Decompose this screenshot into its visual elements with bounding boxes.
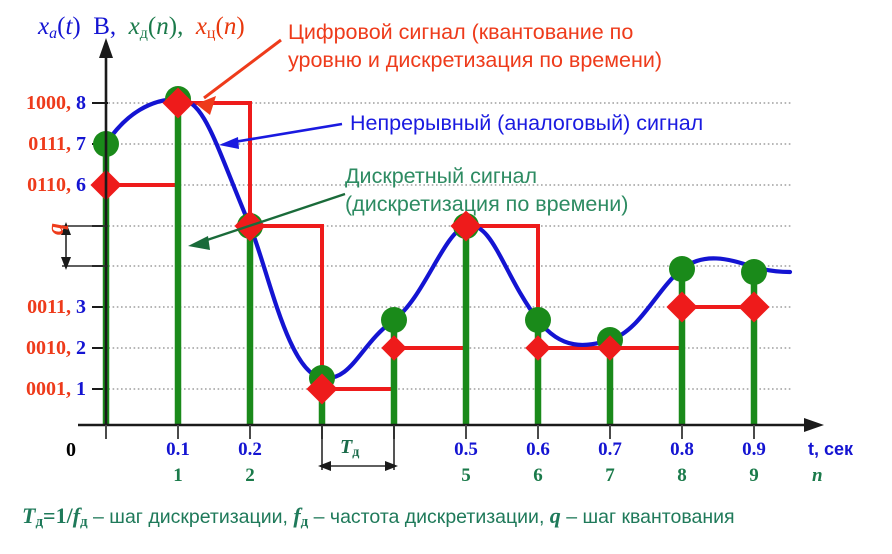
y-label-3-binary: 0011, — [27, 296, 71, 318]
sample-dot-n-6 — [525, 307, 551, 333]
caption-eq: =1/ — [43, 503, 73, 528]
sample-dot-n-4 — [381, 307, 407, 333]
figure-canvas: xa(t) B, xд(n), xц(n) Цифровой сигнал (к… — [0, 0, 892, 554]
quant-diamond-n-8 — [666, 291, 697, 322]
analog-arrowhead — [219, 137, 239, 149]
quant-diamond-n-4 — [381, 335, 406, 360]
x-label-n-2: 2 — [222, 466, 278, 485]
x-label-n-1: 1 — [150, 466, 206, 485]
y-label-2: 0010, 2 — [0, 338, 86, 358]
x-label-t-0.2: 0.2 — [222, 440, 278, 459]
y-label-8-binary: 1000, — [26, 92, 71, 114]
analog-annotation-arrow — [228, 124, 342, 143]
y-label-1-binary: 0001, — [26, 378, 71, 400]
caption-Td: Tд — [22, 503, 43, 528]
y-label-7-level: 7 — [76, 133, 86, 155]
caption-q: q — [550, 503, 561, 528]
caption-fd2: fд — [293, 503, 308, 528]
annotation-discrete: Дискретный сигнал (дискретизация по врем… — [345, 166, 628, 215]
x-label-n-5: 5 — [438, 466, 494, 485]
x-label-t-0.1: 0.1 — [150, 440, 206, 459]
annotation-analog: Непрерывный (аналоговый) сигнал — [350, 113, 703, 135]
digital-annotation-arrow — [204, 40, 281, 98]
q-arrow-down — [61, 257, 71, 270]
caption-text2: – частота дискретизации, — [308, 506, 550, 528]
annotation-analog-line1: Непрерывный (аналоговый) сигнал — [350, 111, 703, 135]
axis-title-digital: xц(n) — [190, 13, 245, 40]
y-label-1: 0001, 1 — [0, 379, 86, 399]
x-label-t-0.6: 0.6 — [510, 440, 566, 459]
y-label-3: 0011, 3 — [0, 297, 86, 317]
x-label-t-0.9: 0.9 — [726, 440, 782, 459]
quant-diamond-n-6 — [525, 335, 550, 360]
y-label-1-level: 1 — [76, 378, 86, 400]
annotation-discrete-line2: (дискретизация по времени) — [345, 194, 628, 216]
x-tick-marks — [106, 425, 754, 439]
x-axis-arrowhead — [804, 418, 824, 432]
y-label-6-level: 6 — [76, 174, 86, 196]
y-label-7-binary: 0111, — [28, 133, 71, 155]
x-label-t-0.8: 0.8 — [654, 440, 710, 459]
discrete-signal-stems — [106, 99, 754, 425]
y-label-8-level: 8 — [76, 92, 86, 114]
axis-title-analog: xa(t) — [38, 13, 87, 40]
y-label-6: 0110, 6 — [0, 175, 86, 195]
x-label-n-7: 7 — [582, 466, 638, 485]
annotation-digital: Цифровой сигнал (квантование по уровню и… — [288, 22, 662, 71]
x-label-origin: 0 — [66, 440, 76, 460]
td-arrow-left — [318, 461, 331, 471]
axis-title-discrete: xд(n), — [122, 13, 189, 40]
axis-title-unit: B, — [87, 13, 116, 40]
y-label-2-binary: 0010, — [26, 337, 71, 359]
x-label-t-0.5: 0.5 — [438, 440, 494, 459]
y-label-2-level: 2 — [76, 337, 86, 359]
y-label-3-level: 3 — [76, 296, 86, 318]
annotation-digital-line2: уровню и дискретизация по времени) — [288, 50, 662, 72]
figure-caption: Tд=1/fд – шаг дискретизации, fд – частот… — [22, 505, 735, 530]
x-axis-unit-n: n — [812, 466, 823, 485]
y-label-8: 1000, 8 — [0, 93, 86, 113]
y-label-6-binary: 0110, — [27, 174, 71, 196]
sample-dot-n-9 — [741, 259, 767, 285]
x-label-n-6: 6 — [510, 466, 566, 485]
caption-fd1: fд — [73, 503, 88, 528]
quant-diamond-n-9 — [738, 291, 769, 322]
x-label-t-0.7: 0.7 — [582, 440, 638, 459]
caption-text3: – шаг квантования — [561, 506, 735, 528]
annotation-discrete-line1: Дискретный сигнал — [345, 164, 537, 188]
annotation-digital-line1: Цифровой сигнал (квантование по — [288, 20, 633, 44]
x-label-n-9: 9 — [726, 466, 782, 485]
td-arrow-right — [385, 461, 398, 471]
quantization-step-label: q — [44, 223, 68, 235]
y-label-7: 0111, 7 — [0, 134, 86, 154]
axis-title: xa(t) B, xд(n), xц(n) — [38, 14, 245, 42]
sampling-period-label: Tд — [340, 437, 359, 460]
x-label-n-8: 8 — [654, 466, 710, 485]
discrete-arrowhead — [188, 236, 210, 250]
caption-text1: – шаг дискретизации, — [88, 506, 294, 528]
sample-dot-n-8 — [669, 256, 695, 282]
x-axis-unit-time: t, сек — [808, 440, 853, 458]
